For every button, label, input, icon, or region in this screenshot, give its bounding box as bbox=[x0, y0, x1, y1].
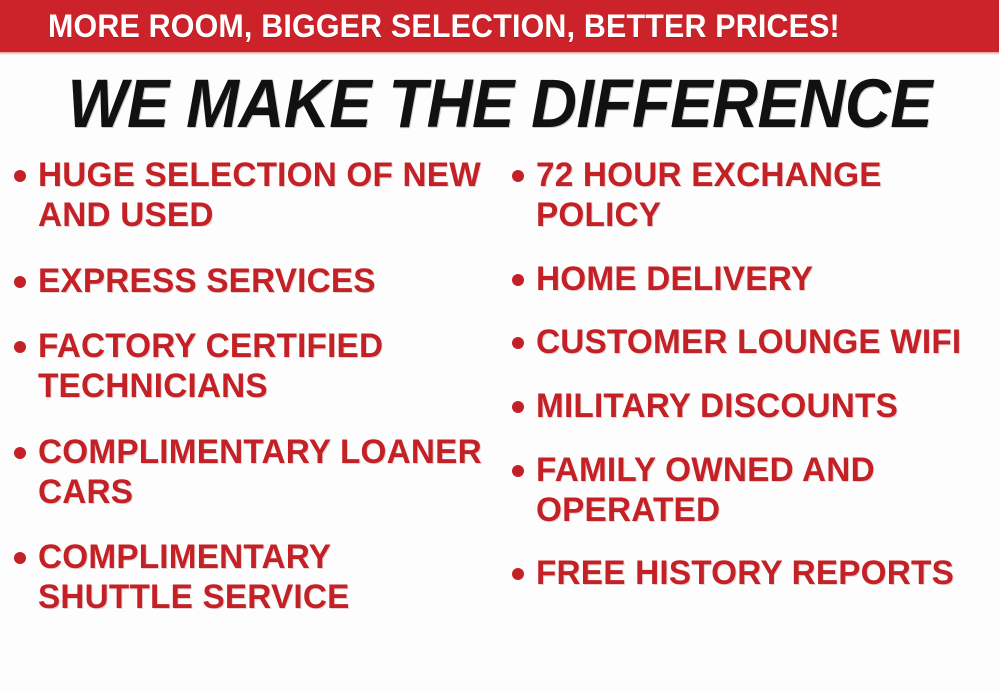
list-item: EXPRESS SERVICES bbox=[14, 262, 494, 302]
list-item: FACTORY CERTIFIED TECHNICIANS bbox=[14, 327, 494, 407]
top-banner: MORE ROOM, BIGGER SELECTION, BETTER PRIC… bbox=[0, 0, 999, 52]
list-item-label: FAMILY OWNED AND OPERATED bbox=[536, 451, 986, 531]
bullet-dot-icon bbox=[512, 170, 524, 182]
list-item-label: 72 HOUR EXCHANGE POLICY bbox=[536, 156, 986, 236]
list-item-label: MILITARY DISCOUNTS bbox=[536, 387, 898, 427]
bullet-dot-icon bbox=[512, 465, 524, 477]
list-item: COMPLIMENTARY SHUTTLE SERVICE bbox=[14, 538, 494, 618]
list-item: HOME DELIVERY bbox=[512, 260, 996, 300]
list-item-label: COMPLIMENTARY LOANER CARS bbox=[38, 433, 484, 513]
bullet-dot-icon bbox=[512, 274, 524, 286]
list-item: FAMILY OWNED AND OPERATED bbox=[512, 451, 996, 531]
banner-shadow-divider bbox=[0, 52, 999, 55]
bullet-dot-icon bbox=[14, 341, 26, 353]
bullet-dot-icon bbox=[512, 568, 524, 580]
list-item-label: HUGE SELECTION OF NEW AND USED bbox=[38, 156, 484, 236]
list-item-label: CUSTOMER LOUNGE WIFI bbox=[536, 323, 961, 363]
list-item: CUSTOMER LOUNGE WIFI bbox=[512, 323, 996, 363]
list-item-label: FREE HISTORY REPORTS bbox=[536, 554, 954, 594]
promo-poster: MORE ROOM, BIGGER SELECTION, BETTER PRIC… bbox=[0, 0, 999, 692]
list-item-label: HOME DELIVERY bbox=[536, 260, 813, 300]
list-item-label: FACTORY CERTIFIED TECHNICIANS bbox=[38, 327, 484, 407]
list-item: 72 HOUR EXCHANGE POLICY bbox=[512, 156, 996, 236]
features-column-right: 72 HOUR EXCHANGE POLICY HOME DELIVERY CU… bbox=[500, 156, 999, 692]
list-item-label: COMPLIMENTARY SHUTTLE SERVICE bbox=[38, 538, 484, 618]
bullet-dot-icon bbox=[14, 552, 26, 564]
list-item: FREE HISTORY REPORTS bbox=[512, 554, 996, 594]
banner-headline-text: MORE ROOM, BIGGER SELECTION, BETTER PRIC… bbox=[48, 10, 840, 42]
list-item-label: EXPRESS SERVICES bbox=[38, 262, 376, 302]
features-column-left: HUGE SELECTION OF NEW AND USED EXPRESS S… bbox=[0, 156, 500, 692]
page-title-text: WE MAKE THE DIFFERENCE bbox=[67, 69, 931, 138]
bullet-dot-icon bbox=[14, 447, 26, 459]
list-item: COMPLIMENTARY LOANER CARS bbox=[14, 433, 494, 513]
features-columns: HUGE SELECTION OF NEW AND USED EXPRESS S… bbox=[0, 156, 999, 692]
list-item: MILITARY DISCOUNTS bbox=[512, 387, 996, 427]
bullet-dot-icon bbox=[14, 170, 26, 182]
list-item: HUGE SELECTION OF NEW AND USED bbox=[14, 156, 494, 236]
bullet-dot-icon bbox=[512, 401, 524, 413]
bullet-dot-icon bbox=[14, 276, 26, 288]
bullet-dot-icon bbox=[512, 337, 524, 349]
page-title: WE MAKE THE DIFFERENCE bbox=[0, 69, 999, 138]
